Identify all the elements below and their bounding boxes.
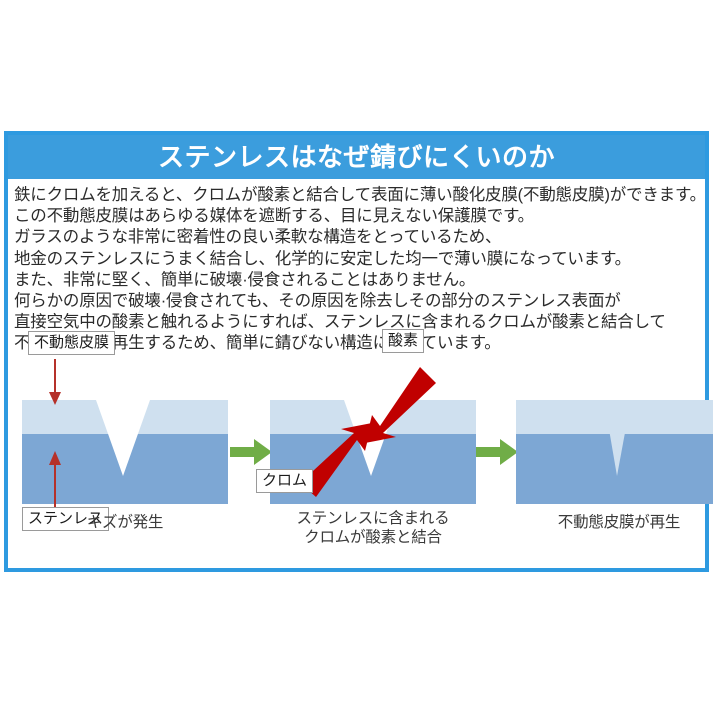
film-pointer-arrow-icon [48,359,62,407]
infographic-canvas: ステンレスはなぜ錆びにくいのか 鉄にクロムを加えると、クロムが酸素と結合して表面… [0,0,713,713]
caption-line: クロムが酸素と結合 [270,528,476,547]
label-oxygen: 酸素 [382,329,424,353]
slab-cross-section-icon [516,400,713,504]
steel-pointer-arrow-icon [48,449,62,507]
content-card: ステンレスはなぜ錆びにくいのか 鉄にクロムを加えると、クロムが酸素と結合して表面… [4,131,709,572]
body-line: 何らかの原因で破壊·侵食されても、その原因を除去しその部分のステンレス表面が [14,291,704,312]
caption-line: キズが発生 [22,513,228,532]
page-title: ステンレスはなぜ錆びにくいのか [158,144,555,170]
panel-bonding: 酸素 クロム ステンレスに含まれる クロムが酸素と結合 [270,363,476,568]
transition-arrow-right-icon-2 [476,439,518,465]
process-diagram: 不動態皮膜 ステンレス キズが発生 [8,363,705,568]
caption-line: ステンレスに含まれる [270,509,476,528]
body-line: 直接空気中の酸素と触れるようにすれば、ステンレスに含まれるクロムが酸素と結合して [14,312,704,333]
label-passive-film: 不動態皮膜 [28,331,115,355]
panel-caption-regenerated: 不動態皮膜が再生 [516,513,713,532]
panel-regenerated: 不動態皮膜が再生 [516,363,713,568]
body-paragraph: 鉄にクロムを加えると、クロムが酸素と結合して表面に薄い酸化皮膜(不動態皮膜)がで… [14,185,704,355]
transition-arrow-right-icon-1 [230,439,272,465]
body-line: 不動態皮膜を再生するため、簡単に錆びない構造になっています。 [14,333,704,354]
title-bar: ステンレスはなぜ錆びにくいのか [8,135,705,179]
body-line: ガラスのような非常に密着性の良い柔軟な構造をとっているため、 [14,227,704,248]
body-line: この不動態皮膜はあらゆる媒体を遮断する、目に見えない保護膜です。 [14,206,704,227]
panel-scratch: 不動態皮膜 ステンレス キズが発生 [22,363,228,568]
caption-line: 不動態皮膜が再生 [516,513,713,532]
label-chromium: クロム [256,469,313,493]
body-line: また、非常に堅く、簡単に破壊·侵食されることはありません。 [14,270,704,291]
panel-caption-scratch: キズが発生 [22,513,228,532]
body-line: 鉄にクロムを加えると、クロムが酸素と結合して表面に薄い酸化皮膜(不動態皮膜)がで… [14,185,704,206]
panel-caption-bonding: ステンレスに含まれる クロムが酸素と結合 [270,509,476,547]
slab-illustration-regenerated [516,400,713,504]
body-line: 地金のステンレスにうまく結合し、化学的に安定した均一で薄い膜になっています。 [14,249,704,270]
